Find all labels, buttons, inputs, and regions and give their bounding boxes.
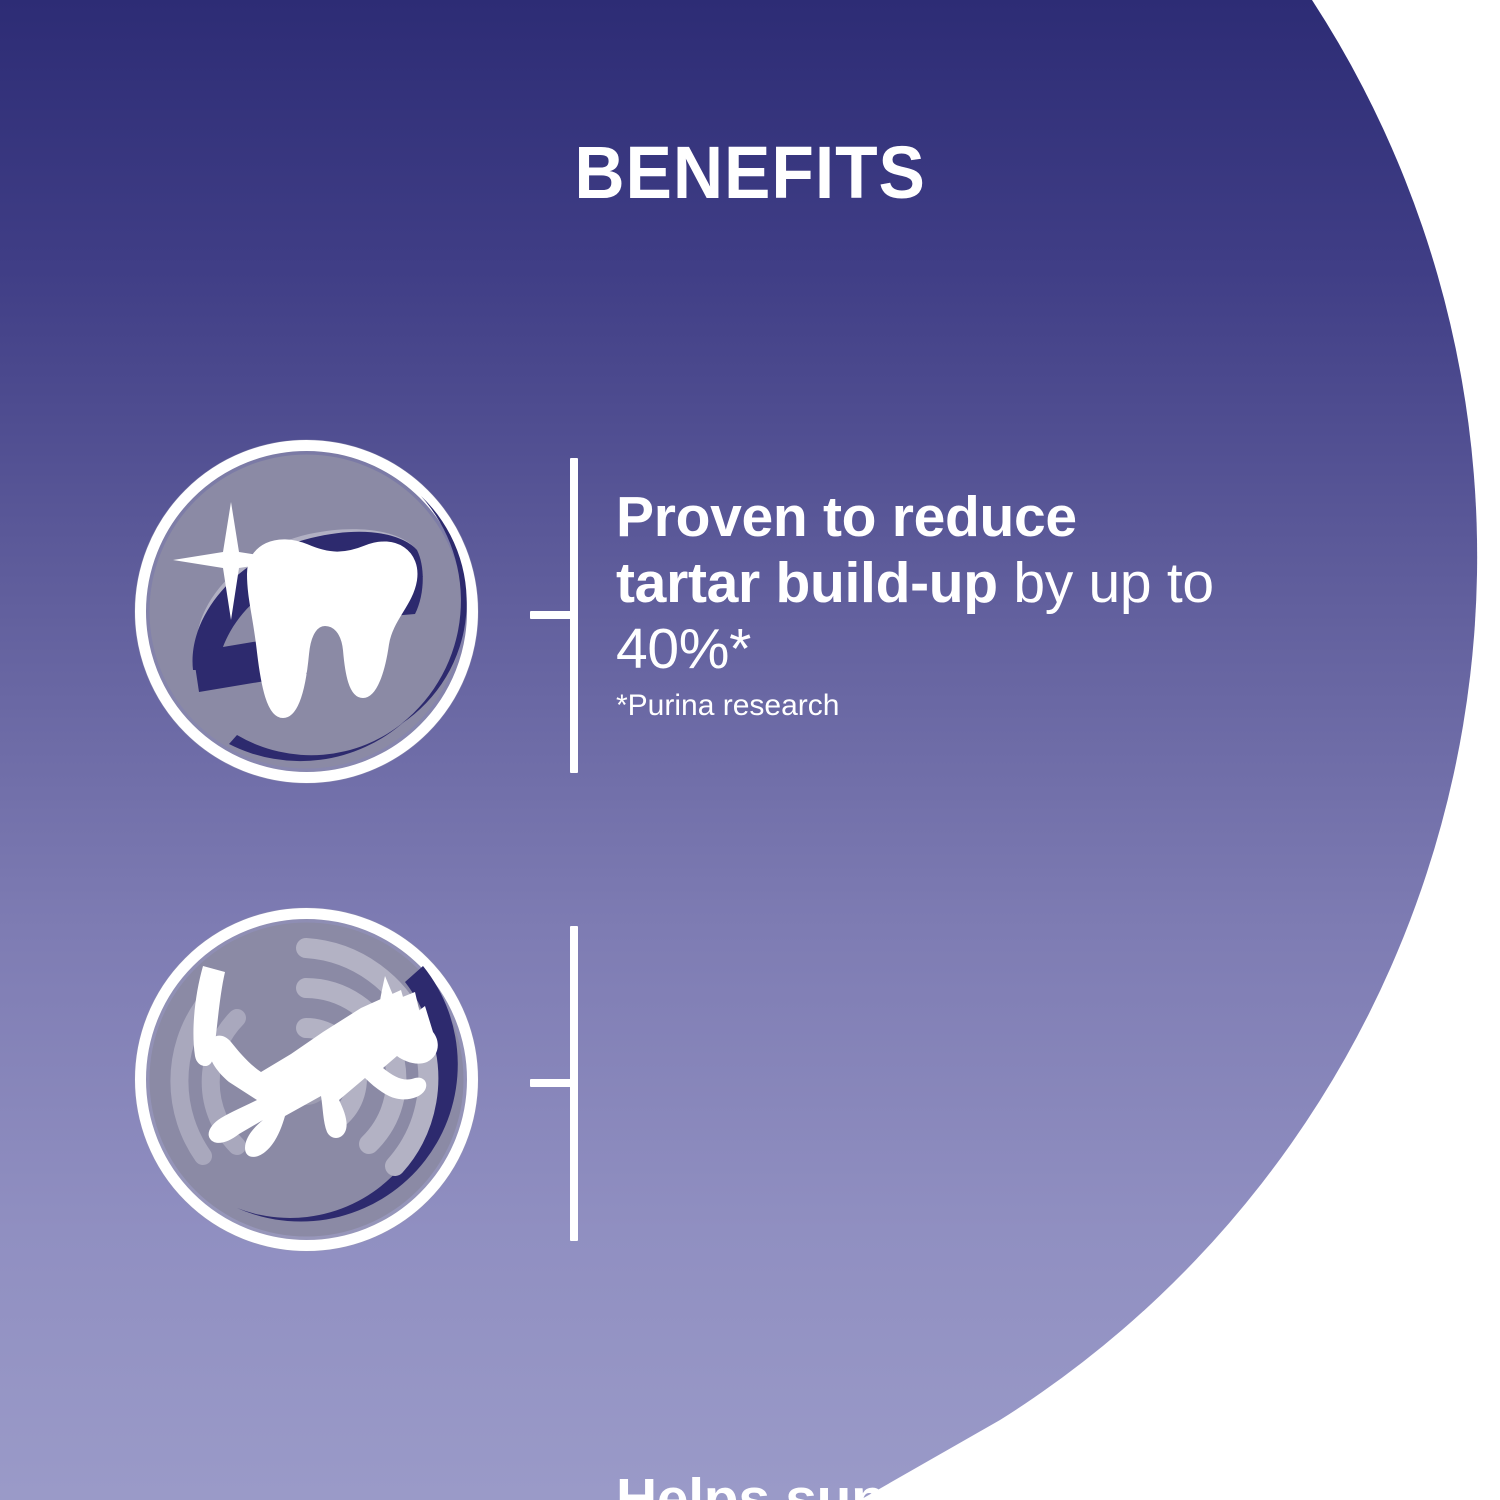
benefit-text-block: Proven to reduce tartar build-up by up t… [616, 484, 1236, 724]
benefit-copy: Proven to reduce tartar build-up by up t… [616, 484, 1236, 682]
benefit-copy-bold: Helps support your cat’s vitality [616, 1467, 1133, 1500]
benefit-footnote: *Purina research [616, 688, 1236, 724]
benefit-text-block: Helps support your cat’s vitality [616, 1466, 1236, 1500]
page-title: BENEFITS [45, 136, 1455, 210]
benefit-item: Proven to reduce tartar build-up by up t… [0, 430, 1500, 790]
divider-tick [530, 611, 574, 619]
leaping-cat-vitality-icon [133, 906, 480, 1253]
divider-tick [530, 1079, 574, 1087]
tooth-tartar-icon [133, 438, 480, 785]
benefits-panel: BENEFITS [0, 0, 1500, 1500]
benefit-item: Helps support your cat’s vitality [0, 898, 1500, 1258]
benefit-copy: Helps support your cat’s vitality [616, 1466, 1236, 1500]
